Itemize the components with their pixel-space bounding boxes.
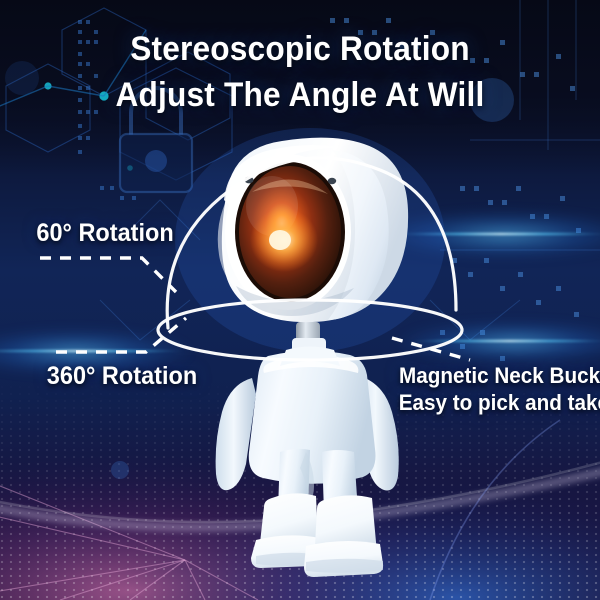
callout-rotation-60: 60° Rotation: [36, 219, 173, 248]
callout-easy-pick-take: Easy to pick and take: [399, 390, 600, 416]
callout-rotation-360: 360° Rotation: [47, 362, 197, 391]
callout-magnetic-neck-buckle: Magnetic Neck Buckle: [399, 363, 600, 389]
leader-line-60: [40, 258, 176, 292]
headline-line-2: Adjust The Angle At Will: [21, 76, 579, 115]
product-banner: Stereoscopic Rotation Adjust The Angle A…: [0, 0, 600, 600]
leader-line-360: [56, 318, 186, 352]
headline-line-1: Stereoscopic Rotation: [21, 30, 579, 69]
leader-line-magnetic: [392, 338, 470, 360]
